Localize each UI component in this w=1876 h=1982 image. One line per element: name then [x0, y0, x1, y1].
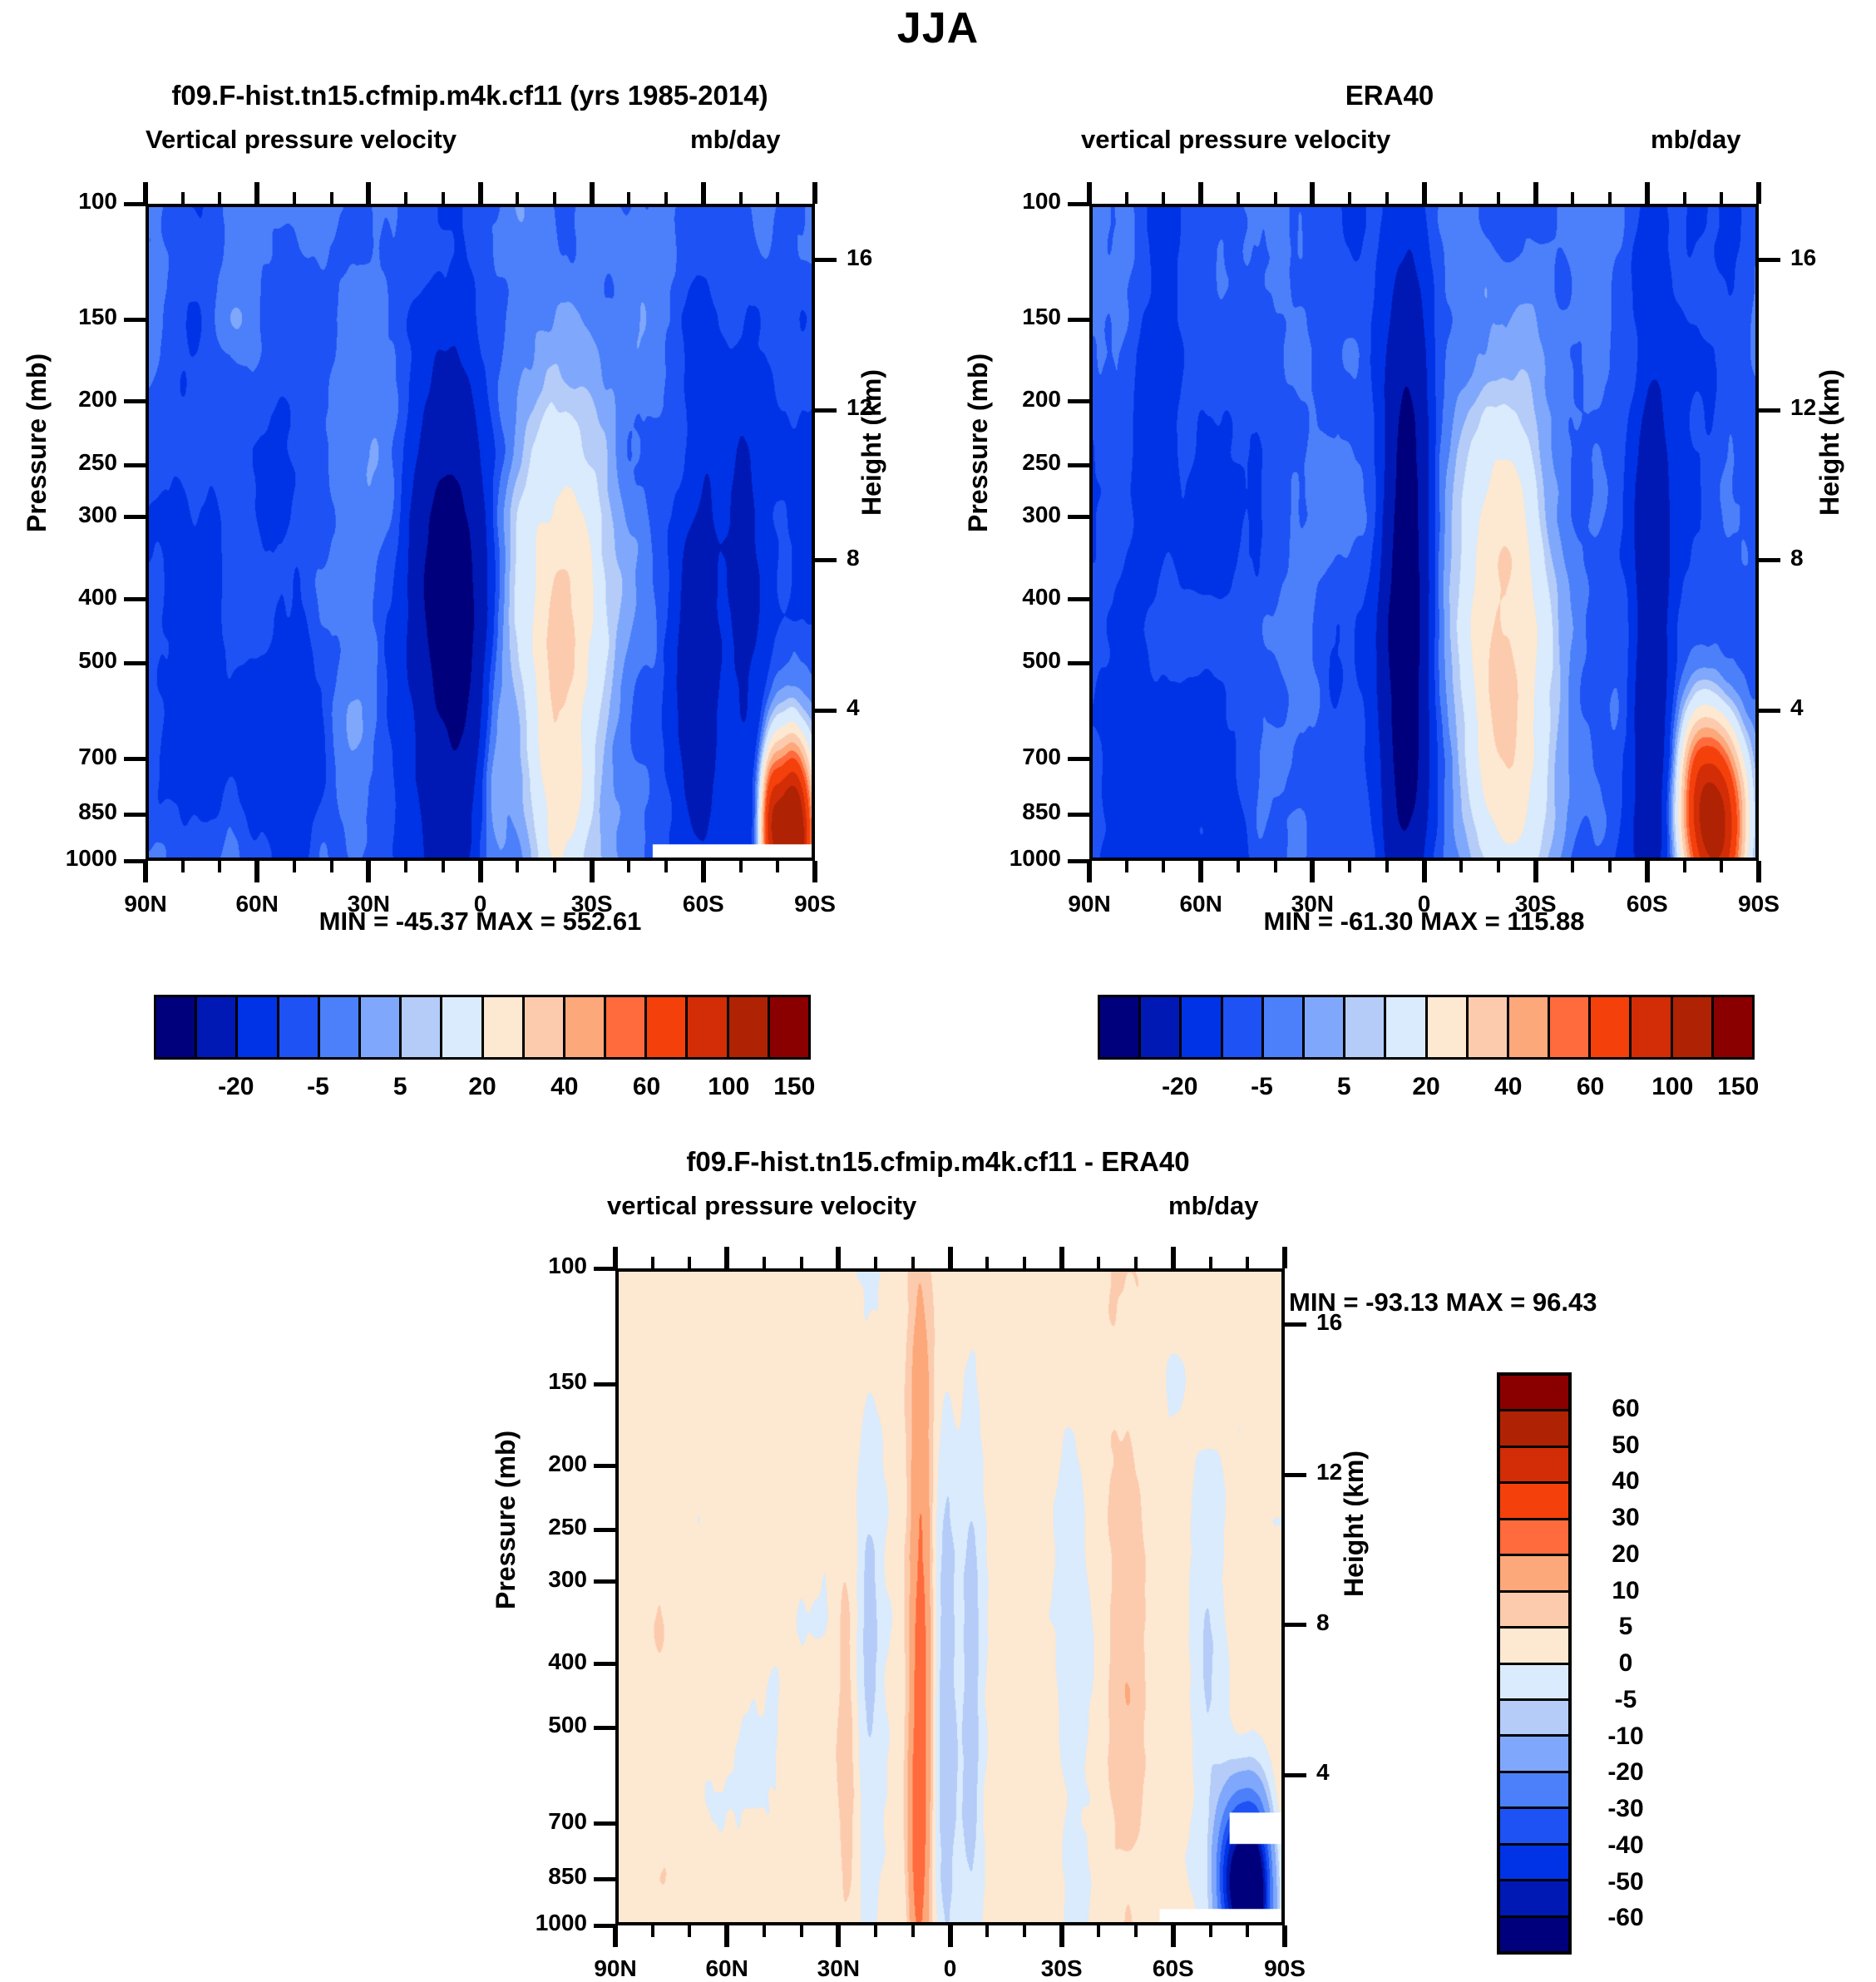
x-tick-minor: [1497, 861, 1500, 872]
y-tick-major: [1068, 463, 1089, 467]
colorbar-cell: [688, 997, 728, 1057]
colorbar-tick-label: 10: [1580, 1577, 1671, 1605]
y-tick-label: 150: [482, 1368, 587, 1395]
colorbar-tick-label: 30: [1580, 1504, 1671, 1532]
colorbar-tick-label: -40: [1580, 1831, 1671, 1860]
y-tick-major: [124, 463, 146, 467]
y-tick-label: 200: [12, 386, 117, 413]
panel-obs-plot-area[interactable]: [1089, 204, 1759, 861]
panel-model-title: f09.F-hist.tn15.cfmip.m4k.cf11 (yrs 1985…: [0, 80, 940, 111]
x-tick-top-minor: [1497, 192, 1500, 204]
x-tick-top-minor: [1237, 192, 1240, 204]
x-tick-minor: [1237, 861, 1240, 872]
y-tick-major: [594, 1877, 615, 1881]
colorbar-cell: [1500, 1411, 1568, 1447]
figure-root: JJA f09.F-hist.tn15.cfmip.m4k.cf11 (yrs …: [0, 0, 1876, 1982]
x-tick-major: [701, 861, 706, 882]
x-tick-top-major: [478, 182, 483, 204]
y-right-tick: [1759, 408, 1780, 413]
y-right-tick-label: 8: [1316, 1609, 1391, 1636]
x-tick-minor: [1608, 861, 1612, 872]
x-tick-minor: [1125, 861, 1128, 872]
colorbar-cell: [279, 997, 320, 1057]
x-tick-top-minor: [293, 192, 296, 204]
colorbar-cell: [1182, 997, 1222, 1057]
y-right-tick: [1285, 1623, 1306, 1627]
y-tick-label: 100: [956, 188, 1061, 215]
colorbar-tick-label: -50: [1580, 1868, 1671, 1896]
y-tick-label: 850: [12, 798, 117, 825]
x-tick-top-minor: [330, 192, 333, 204]
x-tick-label: 60N: [669, 1955, 785, 1982]
x-tick-top-minor: [442, 192, 445, 204]
colorbar-cell: [1714, 997, 1752, 1057]
y-right-tick-label: 4: [1316, 1759, 1391, 1786]
colorbar-cell: [1673, 997, 1714, 1057]
x-tick-minor: [627, 861, 630, 872]
x-tick-top-minor: [181, 192, 185, 204]
y-tick-label: 400: [482, 1648, 587, 1675]
x-tick-minor: [1348, 861, 1351, 872]
colorbar-tick-label: -10: [1580, 1723, 1671, 1751]
colorbar-tick-label: 40: [550, 1073, 578, 1101]
x-tick-label: 0: [1366, 891, 1483, 917]
x-tick-top-major: [701, 182, 706, 204]
x-tick-major: [366, 861, 371, 882]
x-tick-minor: [1097, 1925, 1100, 1937]
y-tick-major: [594, 1662, 615, 1666]
x-tick-top-minor: [651, 1257, 654, 1268]
x-tick-major: [1171, 1925, 1176, 1947]
x-tick-top-major: [1756, 182, 1761, 204]
colorbar-cell: [402, 997, 442, 1057]
x-tick-minor: [1683, 861, 1686, 872]
x-tick-top-major: [812, 182, 817, 204]
x-tick-minor: [1023, 1925, 1026, 1937]
y-right-tick-label: 16: [1316, 1309, 1391, 1336]
colorbar-cell: [361, 997, 402, 1057]
colorbar-model-labels: -20-55204060100150: [154, 1073, 811, 1106]
colorbar-cell: [1500, 1809, 1568, 1845]
y-right-tick: [815, 258, 837, 262]
y-tick-label: 250: [12, 449, 117, 476]
x-tick-minor: [1246, 1925, 1249, 1937]
x-tick-minor: [442, 861, 445, 872]
x-tick-minor: [739, 861, 743, 872]
x-tick-label: 60S: [1115, 1955, 1232, 1982]
colorbar-cell: [1500, 1881, 1568, 1917]
x-tick-minor: [1162, 861, 1165, 872]
x-tick-major: [143, 861, 148, 882]
colorbar-tick-label: 150: [773, 1073, 815, 1101]
x-tick-major: [254, 861, 259, 882]
colorbar-cell: [1500, 1520, 1568, 1556]
colorbar-tick-label: 5: [1580, 1613, 1671, 1641]
colorbar-cell: [1428, 997, 1469, 1057]
x-tick-label: 60S: [645, 891, 762, 917]
colorbar-tick-label: 60: [1580, 1395, 1671, 1423]
x-tick-top-major: [1645, 182, 1650, 204]
colorbar-cell: [1509, 997, 1550, 1057]
x-tick-minor: [404, 861, 407, 872]
panel-model-subtitle-right: mb/day: [690, 125, 781, 155]
panel-obs-title: ERA40: [936, 80, 1843, 111]
y-tick-major: [594, 1726, 615, 1730]
colorbar-tick-label: -20: [1162, 1073, 1197, 1101]
x-tick-minor: [874, 1925, 877, 1937]
x-tick-major: [1533, 861, 1538, 882]
x-tick-major: [613, 1925, 618, 1947]
x-tick-minor: [218, 861, 221, 872]
colorbar-tick-label: 5: [393, 1073, 407, 1101]
y-right-tick-label: 4: [847, 694, 921, 721]
colorbar-cell: [238, 997, 279, 1057]
x-tick-top-major: [254, 182, 259, 204]
y-tick-major: [124, 515, 146, 519]
x-tick-top-minor: [218, 192, 221, 204]
y-right-tick-label: 4: [1790, 694, 1865, 721]
panel-model-y-axis-title-right: Height (km): [857, 369, 887, 516]
x-tick-top-minor: [911, 1257, 915, 1268]
x-tick-top-minor: [1162, 192, 1165, 204]
x-tick-top-major: [1282, 1247, 1287, 1268]
colorbar-cell: [729, 997, 770, 1057]
x-tick-major: [1310, 861, 1315, 882]
x-tick-minor: [664, 861, 668, 872]
y-tick-major: [1068, 318, 1089, 322]
colorbar-cell: [1500, 1593, 1568, 1629]
y-right-tick: [1285, 1473, 1306, 1477]
colorbar-cell: [1500, 1773, 1568, 1809]
y-right-tick: [1759, 258, 1780, 262]
x-tick-top-minor: [1097, 1257, 1100, 1268]
y-tick-label: 1000: [482, 1910, 587, 1936]
y-tick-label: 700: [956, 744, 1061, 770]
x-tick-minor: [911, 1925, 915, 1937]
x-tick-top-minor: [874, 1257, 877, 1268]
colorbar-tick-label: 60: [633, 1073, 660, 1101]
x-tick-top-major: [1059, 1247, 1064, 1268]
x-tick-top-minor: [1023, 1257, 1026, 1268]
y-tick-major: [124, 318, 146, 322]
colorbar-cell: [197, 997, 238, 1057]
panel-model-subtitle-left: Vertical pressure velocity: [146, 125, 457, 155]
y-tick-label: 250: [956, 449, 1061, 476]
y-right-tick-label: 16: [847, 245, 921, 271]
colorbar-cell: [770, 997, 808, 1057]
y-tick-label: 500: [956, 647, 1061, 674]
x-tick-label: 90S: [1701, 891, 1817, 917]
y-tick-major: [1068, 597, 1089, 601]
x-tick-label: 90N: [1031, 891, 1148, 917]
colorbar-cell: [1500, 1665, 1568, 1701]
y-tick-label: 150: [956, 304, 1061, 330]
colorbar-tick-label: 5: [1337, 1073, 1351, 1101]
y-tick-major: [1068, 515, 1089, 519]
x-tick-top-minor: [800, 1257, 803, 1268]
x-tick-minor: [293, 861, 296, 872]
colorbar-tick-label: 40: [1494, 1073, 1522, 1101]
x-tick-top-minor: [688, 1257, 691, 1268]
y-tick-label: 150: [12, 304, 117, 330]
colorbar-cell: [1591, 997, 1632, 1057]
x-tick-top-major: [1198, 182, 1203, 204]
colorbar-tick-label: 20: [1412, 1073, 1439, 1101]
colorbar-cell: [1500, 1448, 1568, 1484]
x-tick-major: [1422, 861, 1427, 882]
colorbar-tick-label: -30: [1580, 1795, 1671, 1823]
x-tick-top-major: [1310, 182, 1315, 204]
colorbar-cell: [1141, 997, 1182, 1057]
x-tick-top-minor: [404, 192, 407, 204]
colorbar-cell: [1500, 1701, 1568, 1737]
colorbar-cell: [1345, 997, 1386, 1057]
y-tick-major: [1068, 661, 1089, 665]
y-tick-major: [594, 1821, 615, 1826]
colorbar-cell: [1386, 997, 1427, 1057]
colorbar-cell: [1500, 1556, 1568, 1592]
x-tick-minor: [1274, 861, 1277, 872]
colorbar-cell: [320, 997, 361, 1057]
y-tick-major: [594, 1579, 615, 1584]
y-tick-major: [124, 597, 146, 601]
y-tick-major: [594, 1464, 615, 1468]
y-tick-label: 850: [956, 798, 1061, 825]
x-tick-major: [1756, 861, 1761, 882]
x-tick-top-minor: [739, 192, 743, 204]
x-tick-top-major: [590, 182, 595, 204]
x-tick-label: 0: [892, 1955, 1009, 1982]
colorbar-tick-label: 20: [1580, 1540, 1671, 1569]
x-tick-label: 90S: [757, 891, 873, 917]
colorbar-cell: [647, 997, 688, 1057]
panel-obs-subtitle-left: vertical pressure velocity: [1081, 125, 1390, 155]
panel-model-plot-area[interactable]: [146, 204, 815, 861]
x-tick-minor: [330, 861, 333, 872]
x-tick-minor: [1571, 861, 1574, 872]
x-tick-top-minor: [1274, 192, 1277, 204]
x-tick-major: [1198, 861, 1203, 882]
y-tick-label: 300: [956, 502, 1061, 528]
x-tick-top-minor: [1125, 192, 1128, 204]
panel-model-contour-canvas: [149, 207, 812, 858]
x-tick-minor: [1720, 861, 1723, 872]
colorbar-tick-label: -5: [1580, 1686, 1671, 1714]
y-tick-label: 1000: [956, 845, 1061, 872]
x-tick-minor: [1209, 1925, 1212, 1937]
colorbar-tick-label: -5: [307, 1073, 329, 1101]
y-tick-major: [124, 661, 146, 665]
y-tick-label: 300: [482, 1566, 587, 1593]
colorbar-cell: [1500, 1629, 1568, 1664]
panel-obs-y-axis-title-right: Height (km): [1814, 369, 1845, 516]
x-tick-major: [1282, 1925, 1287, 1947]
x-tick-minor: [651, 1925, 654, 1937]
colorbar-tick-label: -20: [1580, 1758, 1671, 1787]
x-tick-label: 30S: [1004, 1955, 1120, 1982]
panel-obs-contour-canvas: [1093, 207, 1755, 858]
x-tick-label: 30N: [310, 891, 427, 917]
x-tick-major: [1087, 861, 1092, 882]
colorbar-cell: [565, 997, 606, 1057]
x-tick-top-minor: [627, 192, 630, 204]
x-tick-label: 60N: [199, 891, 315, 917]
x-tick-top-major: [366, 182, 371, 204]
colorbar-cell: [1632, 997, 1672, 1057]
x-tick-major: [1645, 861, 1650, 882]
colorbar-tick-label: 50: [1580, 1431, 1671, 1460]
panel-diff-contour-canvas: [619, 1272, 1281, 1922]
x-tick-minor: [776, 861, 779, 872]
colorbar-model[interactable]: [154, 995, 811, 1060]
y-tick-label: 100: [12, 188, 117, 215]
x-tick-top-minor: [1209, 1257, 1212, 1268]
colorbar-obs[interactable]: [1098, 995, 1755, 1060]
x-tick-top-major: [836, 1247, 841, 1268]
colorbar-cell: [1500, 1846, 1568, 1881]
colorbar-tick-label: 150: [1717, 1073, 1759, 1101]
x-tick-label: 30N: [1254, 891, 1370, 917]
y-right-tick: [1759, 558, 1780, 562]
y-right-tick-label: 16: [1790, 245, 1865, 271]
colorbar-cell: [1305, 997, 1345, 1057]
x-tick-label: 90N: [557, 1955, 674, 1982]
x-tick-label: 30S: [1478, 891, 1594, 917]
panel-diff-subtitle-right: mb/day: [1168, 1191, 1259, 1221]
x-tick-major: [812, 861, 817, 882]
colorbar-cell: [525, 997, 565, 1057]
panel-diff-plot-area[interactable]: [615, 1268, 1285, 1925]
x-tick-major: [836, 1925, 841, 1947]
x-tick-top-major: [1171, 1247, 1176, 1268]
x-tick-top-major: [1533, 182, 1538, 204]
colorbar-cell: [1500, 1918, 1568, 1951]
y-tick-label: 1000: [12, 845, 117, 872]
colorbar-cell: [606, 997, 647, 1057]
x-tick-label: 60N: [1143, 891, 1259, 917]
x-tick-label: 30N: [780, 1955, 896, 1982]
panel-diff-title: f09.F-hist.tn15.cfmip.m4k.cf11 - ERA40: [314, 1146, 1562, 1178]
x-tick-top-minor: [1683, 192, 1686, 204]
x-tick-label: 30S: [534, 891, 650, 917]
y-tick-label: 500: [12, 647, 117, 674]
x-tick-top-minor: [664, 192, 668, 204]
y-tick-label: 500: [482, 1712, 587, 1738]
y-right-tick: [1759, 709, 1780, 713]
y-right-tick: [815, 709, 837, 713]
x-tick-minor: [1385, 861, 1389, 872]
y-tick-label: 100: [482, 1253, 587, 1279]
x-tick-minor: [1459, 861, 1463, 872]
x-tick-label: 90N: [87, 891, 204, 917]
x-tick-top-minor: [1720, 192, 1723, 204]
season-title: JJA: [0, 3, 1876, 53]
x-tick-major: [948, 1925, 953, 1947]
colorbar-cell: [484, 997, 525, 1057]
x-tick-minor: [763, 1925, 766, 1937]
colorbar-tick-label: -5: [1251, 1073, 1273, 1101]
x-tick-label: 0: [422, 891, 539, 917]
y-right-tick-label: 8: [1790, 545, 1865, 571]
colorbar-cell: [1100, 997, 1141, 1057]
x-tick-major: [1059, 1925, 1064, 1947]
y-tick-major: [1068, 813, 1089, 817]
x-tick-label: 90S: [1227, 1955, 1343, 1982]
y-tick-label: 200: [482, 1451, 587, 1477]
colorbar-tick-label: 0: [1580, 1649, 1671, 1678]
x-tick-top-minor: [516, 192, 519, 204]
y-tick-label: 300: [12, 502, 117, 528]
colorbar-tick-label: -20: [218, 1073, 254, 1101]
y-right-tick-label: 8: [847, 545, 921, 571]
x-tick-top-minor: [1571, 192, 1574, 204]
x-tick-minor: [800, 1925, 803, 1937]
x-tick-top-minor: [553, 192, 556, 204]
y-right-tick-label: 12: [1316, 1459, 1391, 1485]
x-tick-top-minor: [763, 1257, 766, 1268]
x-tick-top-minor: [1134, 1257, 1138, 1268]
colorbar-cell: [1469, 997, 1509, 1057]
x-tick-major: [478, 861, 483, 882]
x-tick-top-minor: [1385, 192, 1389, 204]
y-right-tick: [815, 408, 837, 413]
y-right-tick-label: 12: [1790, 394, 1865, 421]
y-tick-label: 400: [956, 584, 1061, 610]
y-tick-label: 850: [482, 1863, 587, 1890]
panel-obs-subtitle-right: mb/day: [1651, 125, 1741, 155]
y-tick-label: 700: [12, 744, 117, 770]
y-right-tick-label: 12: [847, 394, 921, 421]
y-tick-label: 200: [956, 386, 1061, 413]
y-tick-major: [594, 1382, 615, 1386]
colorbar-tick-label: -60: [1580, 1904, 1671, 1932]
colorbar-cell: [1500, 1737, 1568, 1772]
colorbar-diff[interactable]: [1497, 1372, 1572, 1955]
x-tick-top-major: [143, 182, 148, 204]
x-tick-top-minor: [1348, 192, 1351, 204]
colorbar-tick-label: 60: [1577, 1073, 1604, 1101]
colorbar-tick-label: 100: [1651, 1073, 1693, 1101]
y-tick-label: 400: [12, 584, 117, 610]
colorbar-cell: [1550, 997, 1591, 1057]
x-tick-major: [590, 861, 595, 882]
colorbar-cell: [1264, 997, 1305, 1057]
x-tick-minor: [985, 1925, 989, 1937]
colorbar-tick-label: 20: [468, 1073, 496, 1101]
colorbar-cell: [1500, 1376, 1568, 1411]
x-tick-minor: [688, 1925, 691, 1937]
x-tick-top-major: [613, 1247, 618, 1268]
x-tick-top-major: [948, 1247, 953, 1268]
y-tick-major: [124, 813, 146, 817]
y-tick-label: 250: [482, 1514, 587, 1540]
x-tick-top-minor: [1459, 192, 1463, 204]
colorbar-diff-labels: 60504030201050-5-10-20-30-40-50-60: [1580, 1372, 1680, 1955]
colorbar-cell: [156, 997, 197, 1057]
y-tick-major: [124, 757, 146, 761]
x-tick-major: [724, 1925, 729, 1947]
y-right-tick: [1285, 1322, 1306, 1327]
y-tick-major: [1068, 399, 1089, 403]
x-tick-top-major: [1422, 182, 1427, 204]
y-tick-major: [594, 1528, 615, 1532]
x-tick-minor: [181, 861, 185, 872]
panel-diff-subtitle-left: vertical pressure velocity: [607, 1191, 916, 1221]
x-tick-top-minor: [1608, 192, 1612, 204]
colorbar-tick-label: 100: [708, 1073, 749, 1101]
x-tick-top-minor: [776, 192, 779, 204]
x-tick-minor: [553, 861, 556, 872]
